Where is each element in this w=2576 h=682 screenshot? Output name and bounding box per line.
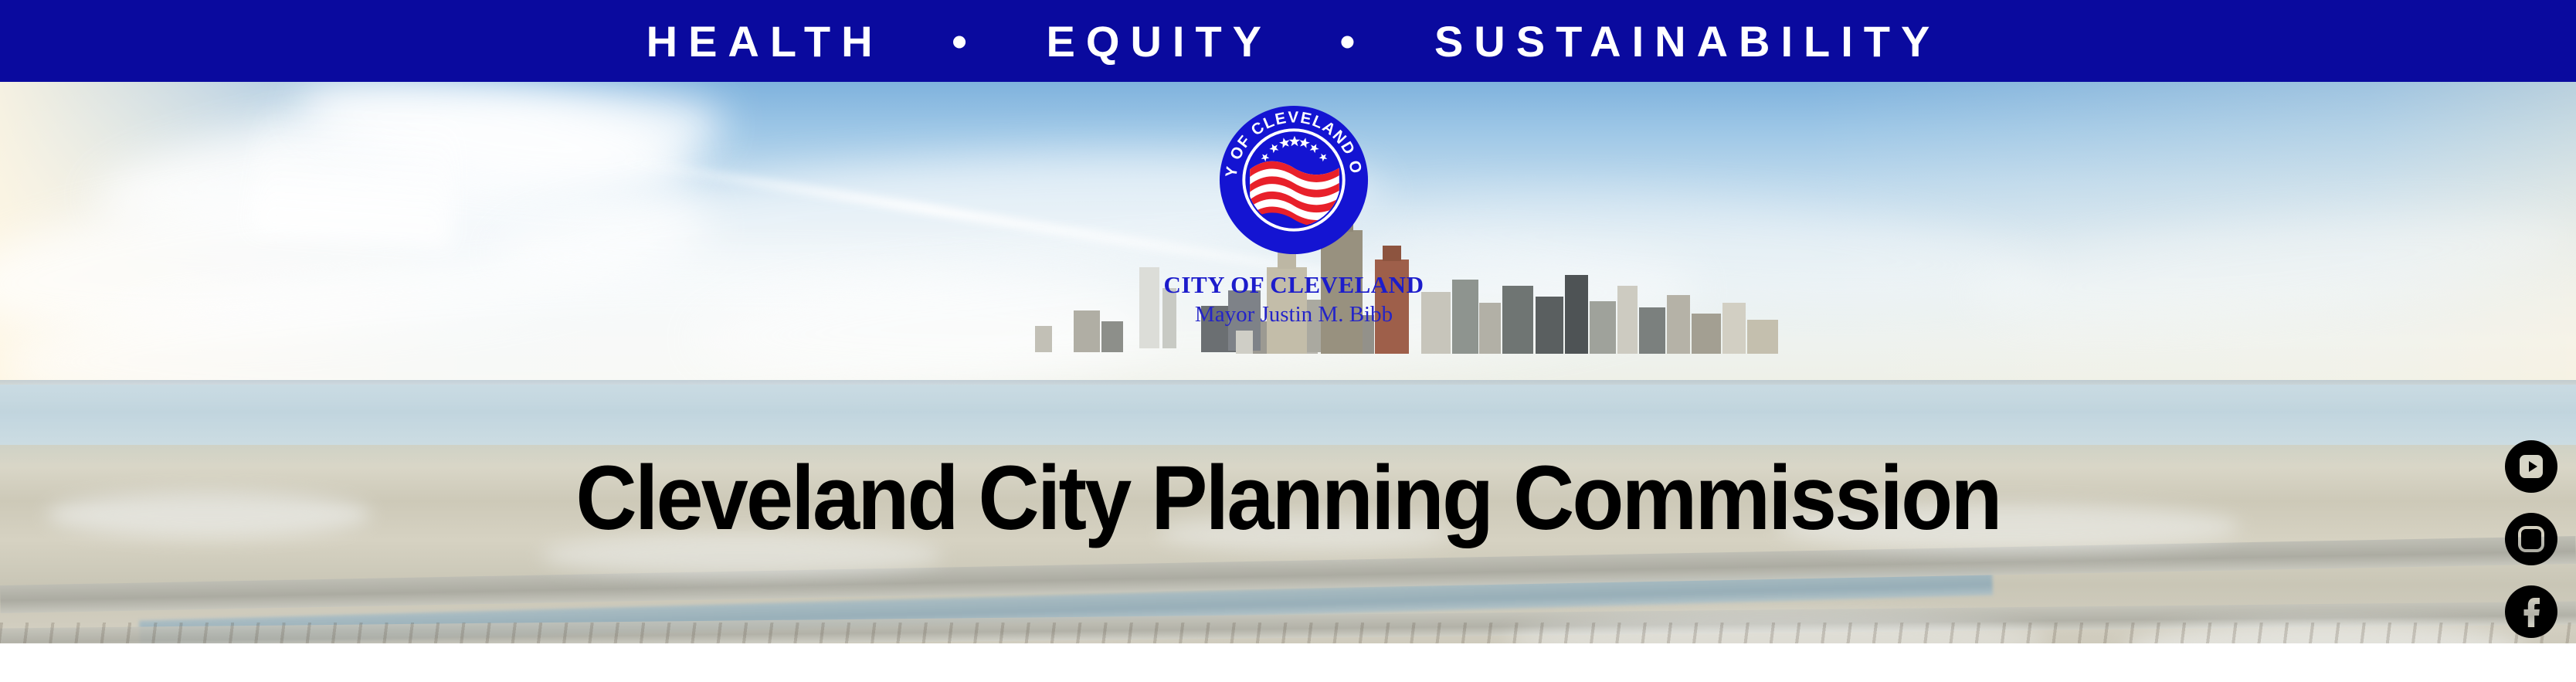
mayor-name-label: Mayor Justin M. Bibb	[1162, 302, 1425, 327]
page-title: Cleveland City Planning Commission	[90, 453, 2486, 544]
tree-line	[0, 623, 2576, 643]
footer-strip	[0, 643, 2576, 682]
social-links	[2505, 440, 2559, 658]
page-root: HEALTH • EQUITY • SUSTAINABILITY	[0, 0, 2576, 682]
city-name-label: CITY OF CLEVELAND	[1162, 271, 1425, 299]
city-of-cleveland-seal-icon: CITY OF CLEVELAND OHIO	[1218, 104, 1369, 256]
city-branding-block: CITY OF CLEVELAND OHIO	[1162, 104, 1425, 321]
instagram-icon[interactable]	[2505, 513, 2557, 565]
facebook-icon[interactable]	[2505, 585, 2557, 638]
tagline-banner: HEALTH • EQUITY • SUSTAINABILITY	[0, 0, 2576, 82]
tagline-text: HEALTH • EQUITY • SUSTAINABILITY	[636, 16, 1941, 66]
youtube-icon[interactable]	[2505, 440, 2557, 493]
